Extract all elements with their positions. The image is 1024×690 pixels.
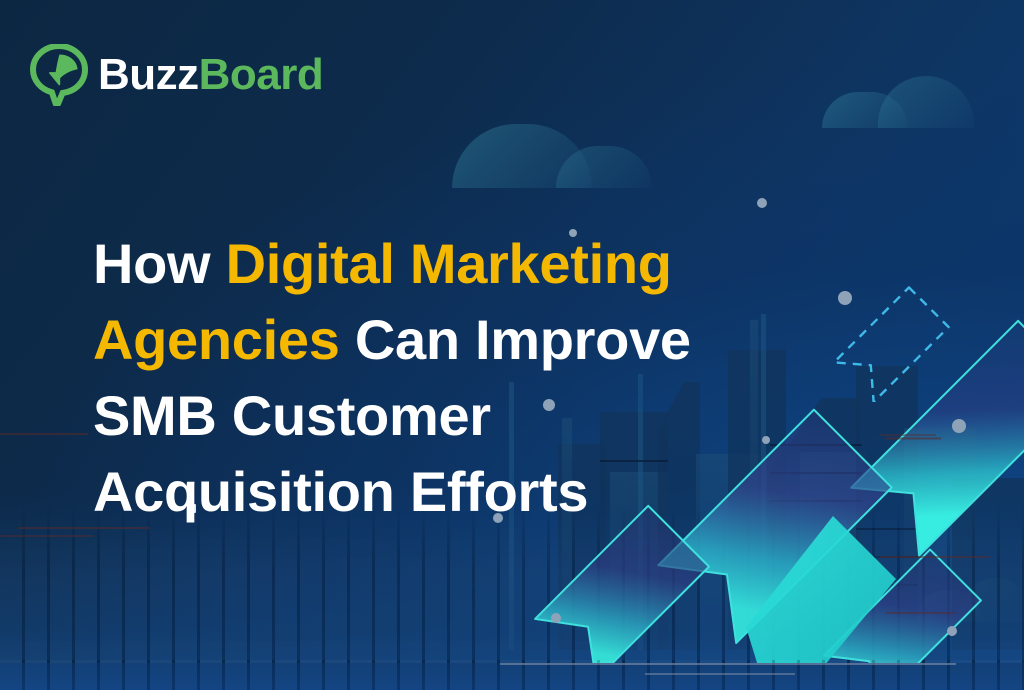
decor-dot xyxy=(757,198,767,208)
page-title-line-3: SMB Customer xyxy=(93,378,753,454)
hero-banner: BuzzBoard How Digital MarketingAgencies … xyxy=(0,0,1024,690)
decor-dot xyxy=(838,291,852,305)
page-title-run: SMB Customer xyxy=(93,384,491,447)
page-title-accent-run: Digital Marketing xyxy=(226,232,672,295)
cloud-top-right-icon xyxy=(822,76,974,128)
page-title-line-4: Acquisition Efforts xyxy=(93,454,753,530)
brand-logo[interactable]: BuzzBoard xyxy=(30,44,323,106)
buzzboard-speech-bubble-icon xyxy=(30,44,88,106)
brand-word-board: Board xyxy=(199,50,324,99)
cloud-top-left-icon xyxy=(452,108,652,188)
brand-word-buzz: Buzz xyxy=(98,50,199,99)
accent-streak-1 xyxy=(0,433,88,435)
accent-streak-3 xyxy=(0,535,94,537)
page-title: How Digital MarketingAgencies Can Improv… xyxy=(93,226,753,530)
brand-wordmark: BuzzBoard xyxy=(98,53,323,97)
page-title-run: Acquisition Efforts xyxy=(93,460,588,523)
page-title-line-2: Agencies Can Improve xyxy=(93,302,753,378)
page-title-run: How xyxy=(93,232,226,295)
ground-mask xyxy=(0,663,1024,690)
page-title-accent-run: Agencies xyxy=(93,308,340,371)
page-title-line-1: How Digital Marketing xyxy=(93,226,753,302)
page-title-run: Can Improve xyxy=(340,308,691,371)
